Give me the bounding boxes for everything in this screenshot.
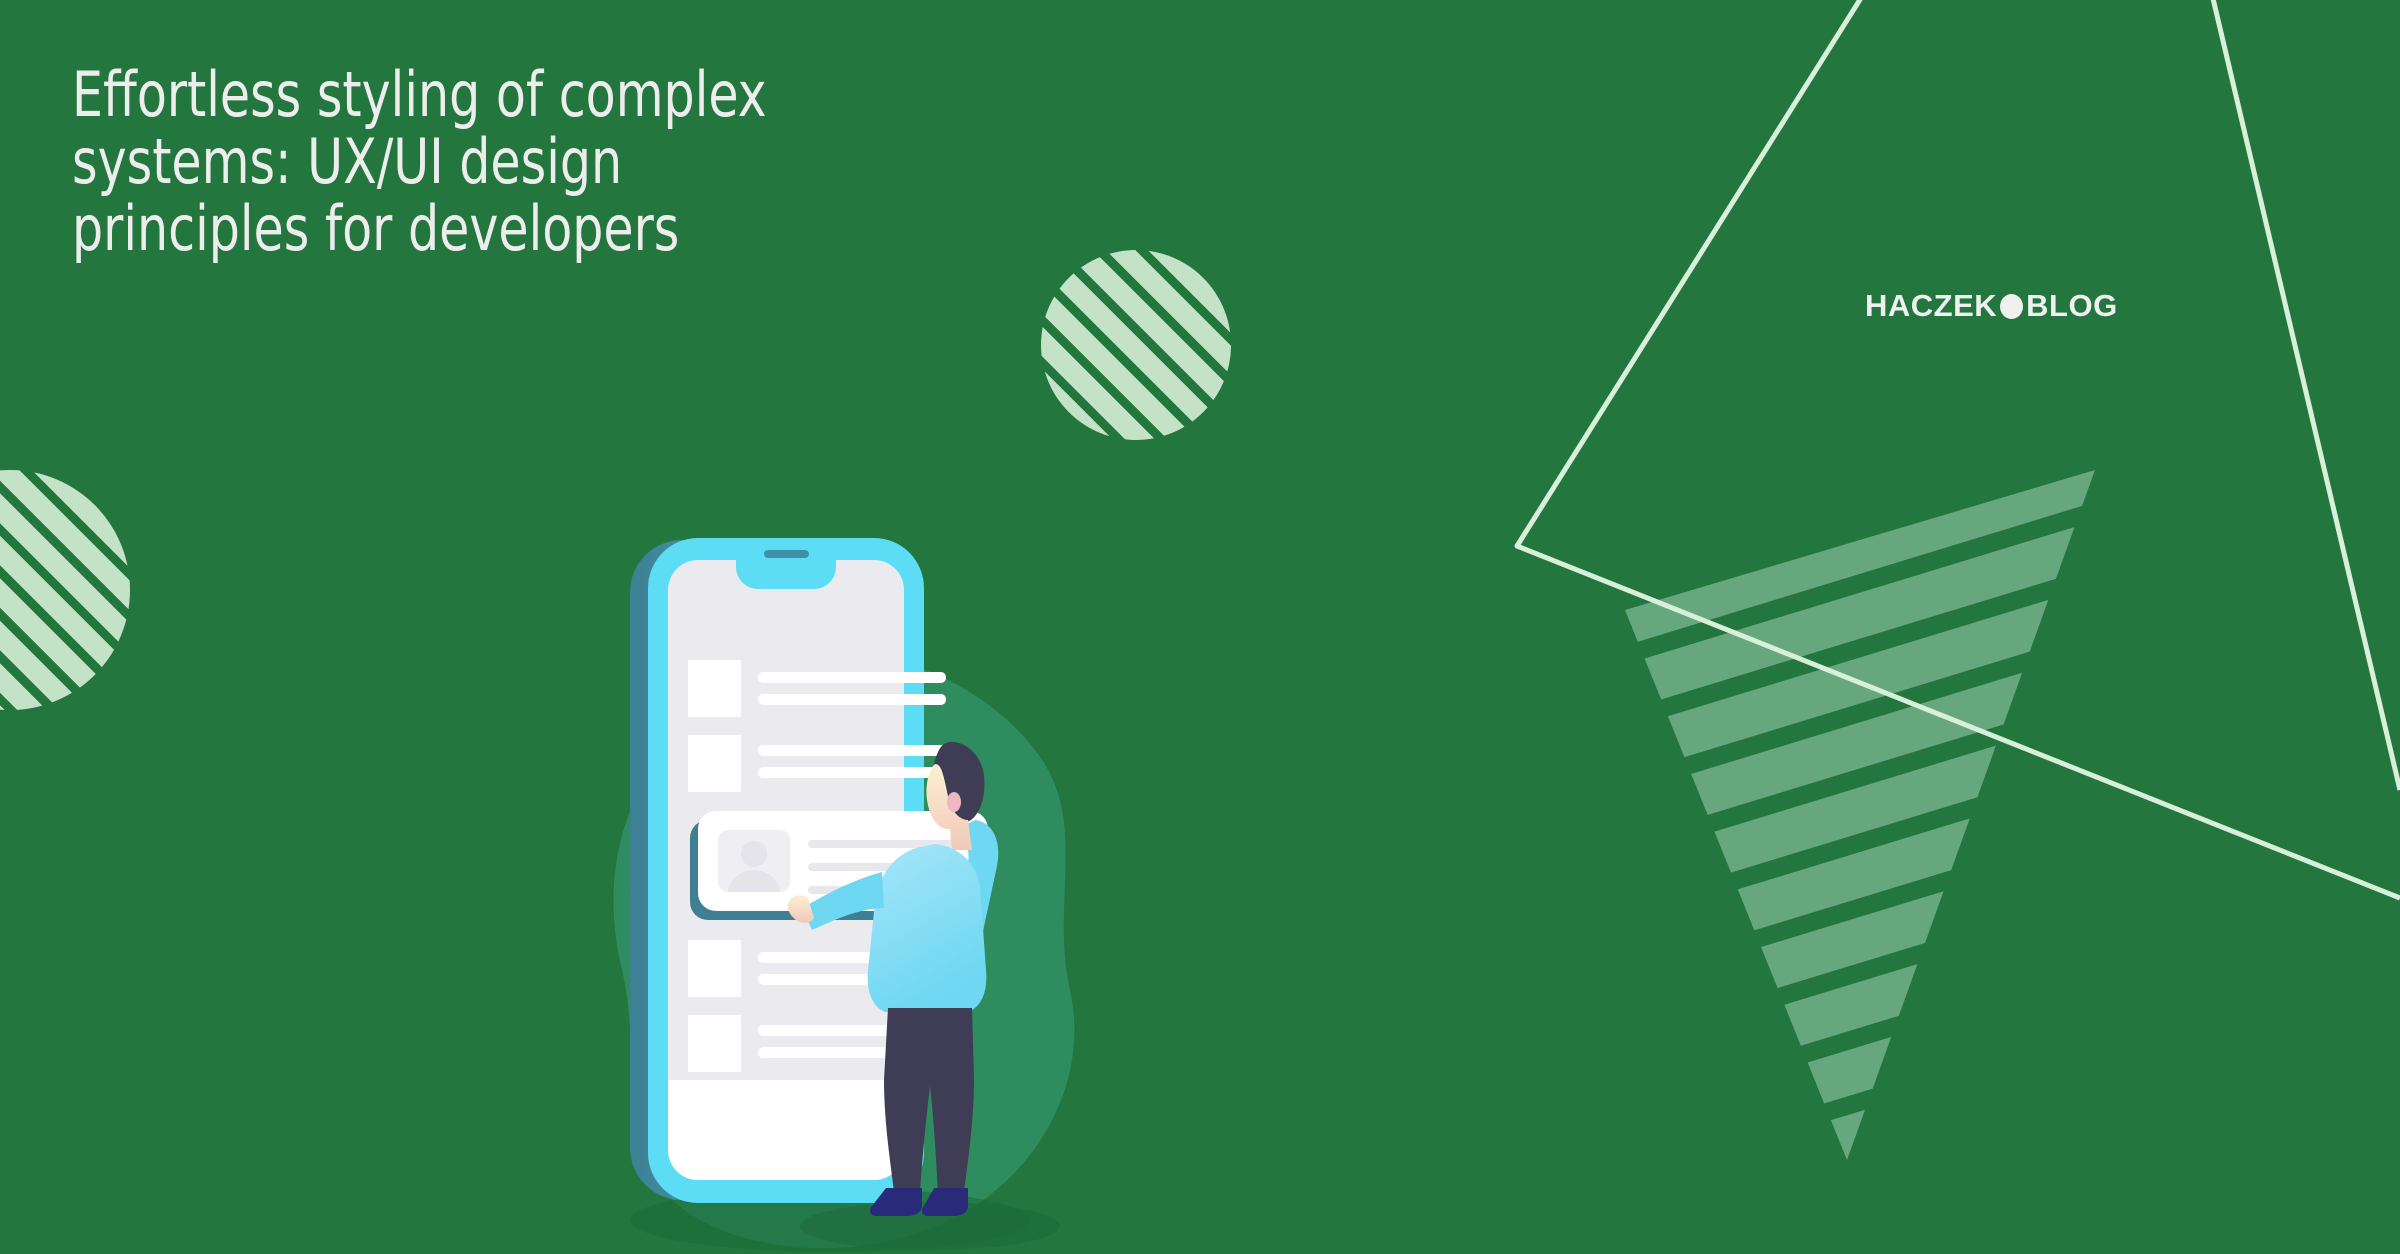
logo-text-primary: HACZEK [1865,288,1997,324]
striped-circle-decoration-top [1041,250,1231,440]
page-title: Effortless styling of complex systems: U… [72,62,996,263]
striped-circle-decoration-left [0,470,130,710]
list-text-line [758,767,946,778]
list-thumbnail [688,1015,741,1072]
list-text-line [758,672,946,683]
list-thumbnail [688,940,741,997]
avatar-head-icon [741,841,767,867]
person-ear [947,792,961,812]
list-thumbnail [688,660,741,717]
striped-triangle-decoration [1625,470,2105,1160]
striped-triangle-svg [1625,470,2105,1160]
phone-screen-lower-white [668,1080,904,1180]
logo-text-secondary: BLOG [2026,288,2118,324]
list-text-line [758,745,946,756]
hero-illustration [530,520,1180,1254]
banner-canvas: HACZEK BLOG Effortless styling of comple… [0,0,2400,1254]
list-thumbnail [688,735,741,792]
list-text-line [758,694,946,705]
phone-notch [736,538,836,589]
card-text-line [808,840,974,848]
circle-icon [2000,294,2023,319]
hero-illustration-svg [530,520,1180,1254]
site-logo[interactable]: HACZEK BLOG [1865,288,2118,324]
polyline-right-branch [2211,0,2400,790]
phone-speaker-grill [764,550,809,558]
